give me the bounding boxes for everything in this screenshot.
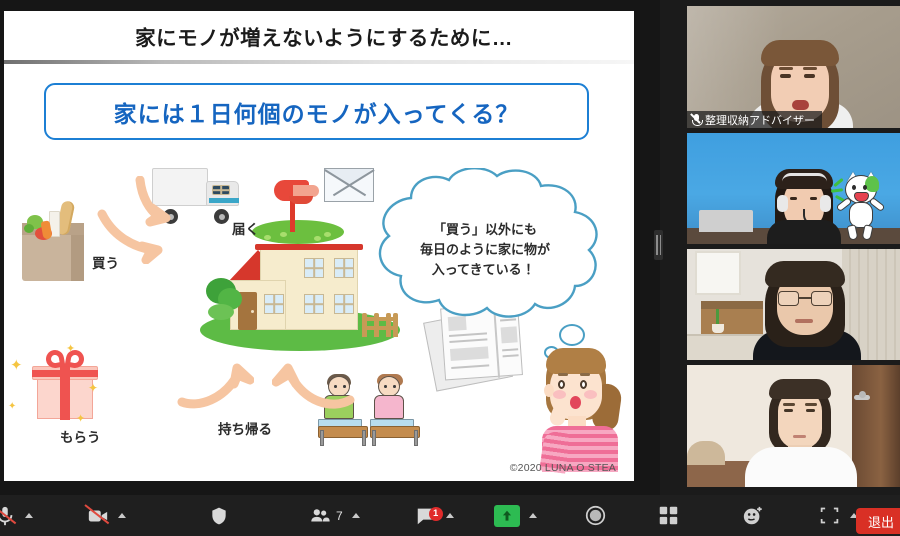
panel-resize-handle[interactable] [654, 230, 663, 260]
participant-name-badge: 整理収納アドバイザー [687, 111, 822, 128]
question-callout-box: 家には１日何個のモノが入ってくる？ [44, 83, 589, 140]
thought-bubble: 「買う」以外にも 毎日のように家に物が 入ってきている ！ [359, 168, 611, 328]
chat-button[interactable]: 1 [415, 495, 437, 536]
meeting-toolbar: 7 1 [0, 495, 900, 536]
video-tile-2[interactable] [687, 133, 900, 244]
thought-bubble-dot-large [559, 324, 585, 346]
chat-icon: 1 [415, 505, 437, 527]
video-tile-3[interactable] [687, 249, 900, 360]
leave-meeting-button[interactable]: 退出 [856, 508, 900, 534]
arrow-news-to-house [272, 358, 358, 410]
shield-icon [209, 505, 231, 527]
arrow-bag-to-house [96, 208, 170, 264]
label-receive: もらう [60, 426, 101, 446]
focus-frame-icon [819, 505, 841, 527]
chevron-up-icon [446, 513, 454, 518]
thought-bubble-text: 「買う」以外にも 毎日のように家に物が 入ってきている ！ [359, 220, 611, 280]
mute-options-caret[interactable] [16, 495, 33, 536]
share-screen-button[interactable] [494, 495, 520, 536]
participants-count: 7 [336, 509, 343, 523]
record-circle-icon [585, 505, 607, 527]
cycle-diagram: 買う 届く [4, 146, 634, 481]
reactions-button[interactable] [742, 495, 764, 536]
chevron-up-icon [118, 513, 126, 518]
share-options-caret[interactable] [520, 495, 537, 536]
breakout-rooms-grid-icon [658, 505, 680, 527]
chevron-up-icon [529, 513, 537, 518]
chat-options-caret[interactable] [437, 495, 454, 536]
breakout-rooms-button[interactable] [658, 495, 680, 536]
focus-mode-button[interactable] [819, 495, 841, 536]
video-tile-4[interactable] [687, 365, 900, 487]
grocery-bag-icon [22, 201, 84, 281]
mute-button[interactable] [0, 495, 16, 536]
chevron-up-icon [352, 513, 360, 518]
label-bring-home: 持ち帰る [218, 418, 272, 438]
microphone-muted-icon [0, 505, 16, 527]
video-options-caret[interactable] [109, 495, 126, 536]
slide-title: 家にモノが増えないようにするために… [4, 11, 634, 60]
presentation-slide: 家にモノが増えないようにするために… 家には１日何個のモノが入ってくる？ 買う [4, 11, 634, 481]
participants-button[interactable]: 7 [309, 495, 343, 536]
record-button[interactable] [585, 495, 607, 536]
video-filmstrip: 整理収納アドバイザー [666, 0, 900, 495]
zoom-meeting-window: 家にモノが増えないようにするために… 家には１日何個のモノが入ってくる？ 買う [0, 0, 900, 536]
microphone-muted-icon [692, 114, 701, 125]
video-tile-1[interactable]: 整理収納アドバイザー [687, 6, 900, 128]
arrow-gift-to-house [174, 358, 254, 410]
reactions-smiley-plus-icon [742, 505, 764, 527]
participants-options-caret[interactable] [343, 495, 360, 536]
shared-screen-area[interactable]: 家にモノが増えないようにするために… 家には１日何個のモノが入ってくる？ 買う [0, 0, 660, 495]
participants-icon [309, 505, 331, 527]
security-button[interactable] [209, 495, 231, 536]
copyright-notice: ©2020 LUNA O STEA [510, 462, 616, 474]
share-screen-up-arrow-icon [494, 505, 520, 527]
chevron-up-icon [25, 513, 33, 518]
camera-stopped-icon [87, 505, 109, 527]
title-divider-rule [4, 60, 634, 64]
cat-mascot-character-icon [835, 175, 885, 241]
participant-name: 整理収納アドバイザー [705, 112, 815, 128]
thinking-girl-icon [534, 346, 630, 472]
question-text: 家には１日何個のモノが入ってくる？ [114, 95, 520, 129]
video-button[interactable] [87, 495, 109, 536]
